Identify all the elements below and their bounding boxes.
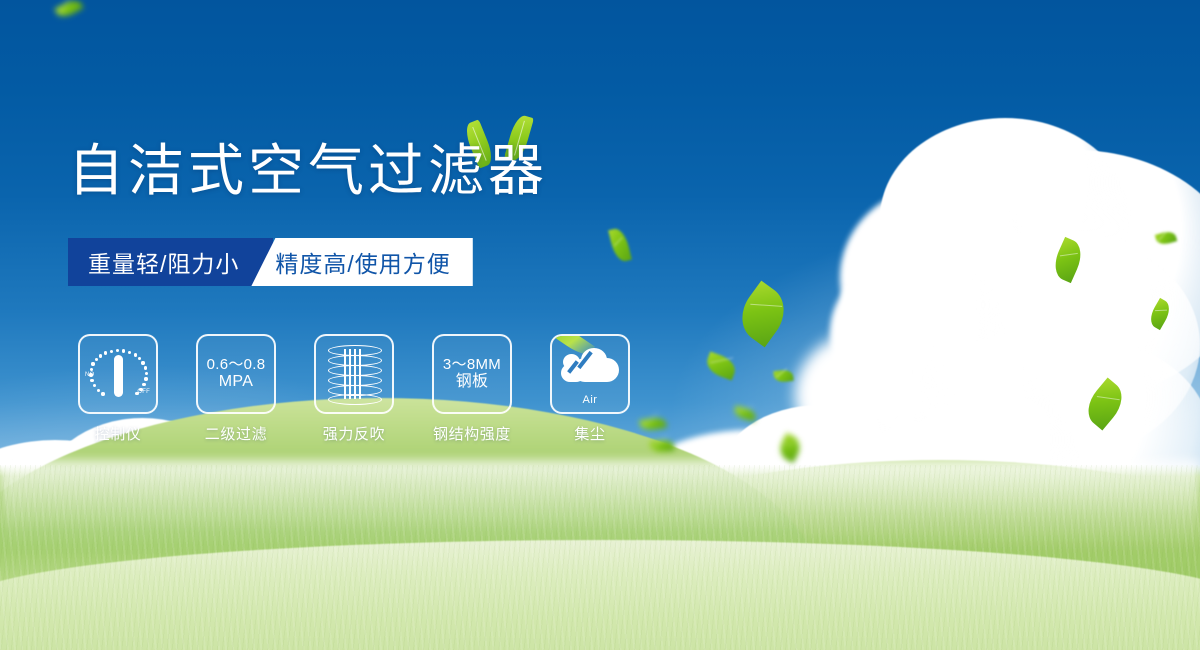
cloud-right-8 xyxy=(795,330,945,460)
floating-leaf-icon xyxy=(1079,378,1130,431)
air-cloud-icon: Air xyxy=(559,346,621,402)
feature-box xyxy=(314,334,394,414)
feature-item-steel-strength[interactable]: 3～8MM 钢板 钢结构强度 xyxy=(430,334,514,444)
feature-icon-line-1: 3～8MM xyxy=(443,356,501,374)
page-title: 自洁式空气过滤器 xyxy=(68,143,548,199)
coil-icon xyxy=(328,345,380,403)
floating-leaf-icon xyxy=(608,227,632,264)
cloud-right-3 xyxy=(840,185,1040,370)
feature-label: 集尘 xyxy=(574,423,605,444)
gauge-needle-icon xyxy=(114,355,123,397)
cloud-right-2 xyxy=(880,118,1130,318)
gauge-icon: NO OFF xyxy=(87,345,149,403)
cloud-right-4 xyxy=(910,230,1200,460)
feature-item-dust-collection[interactable]: Air 集尘 xyxy=(548,334,632,444)
feature-icon-line-2: MPA xyxy=(207,373,266,392)
feature-list: NO OFF 控制仪 0.6～0.8 MPA 二级过滤 xyxy=(76,334,632,444)
floating-leaf-icon xyxy=(1049,237,1087,283)
product-hero-banner: 自洁式空气过滤器 重量轻/阻力小 精度高/使用方便 xyxy=(0,0,1200,650)
pressure-text-icon: 0.6～0.8 MPA xyxy=(207,356,266,393)
floating-leaf-icon xyxy=(1155,229,1178,246)
gauge-on-label: NO xyxy=(85,372,94,378)
steel-plate-text-icon: 3～8MM 钢板 xyxy=(443,356,501,393)
grass-foreground xyxy=(0,540,1200,650)
floating-leaf-icon xyxy=(733,406,757,422)
gauge-off-label: OFF xyxy=(137,389,150,395)
floating-leaf-icon xyxy=(639,416,667,432)
feature-label: 强力反吹 xyxy=(323,423,385,444)
feature-label: 控制仪 xyxy=(95,423,142,444)
feature-box: 0.6～0.8 MPA xyxy=(196,334,276,414)
feature-box: Air xyxy=(550,334,630,414)
floating-leaf-icon xyxy=(776,433,805,464)
feature-icon-line-1: 0.6～0.8 xyxy=(207,356,266,374)
cloud-right-1 xyxy=(910,150,1200,400)
floating-leaf-icon xyxy=(731,281,796,348)
air-label: Air xyxy=(559,394,621,406)
feature-item-controller[interactable]: NO OFF 控制仪 xyxy=(76,334,160,444)
feature-box: NO OFF xyxy=(78,334,158,414)
feature-icon-line-2: 钢板 xyxy=(443,373,501,392)
floating-leaf-icon xyxy=(703,351,738,380)
subtitle-bar: 重量轻/阻力小 精度高/使用方便 xyxy=(68,238,473,286)
cloud-right-5 xyxy=(830,255,1005,410)
floating-leaf-icon xyxy=(1146,298,1174,330)
feature-item-backwash[interactable]: 强力反吹 xyxy=(312,334,396,444)
feature-box: 3～8MM 钢板 xyxy=(432,334,512,414)
feature-label: 二级过滤 xyxy=(205,423,267,444)
floating-leaf-icon xyxy=(773,369,793,384)
subtitle-right: 精度高/使用方便 xyxy=(251,238,472,286)
feature-label: 钢结构强度 xyxy=(433,423,511,444)
floating-leaf-icon xyxy=(54,0,83,20)
feature-item-two-stage-filter[interactable]: 0.6～0.8 MPA 二级过滤 xyxy=(194,334,278,444)
subtitle-left: 重量轻/阻力小 xyxy=(68,238,273,286)
